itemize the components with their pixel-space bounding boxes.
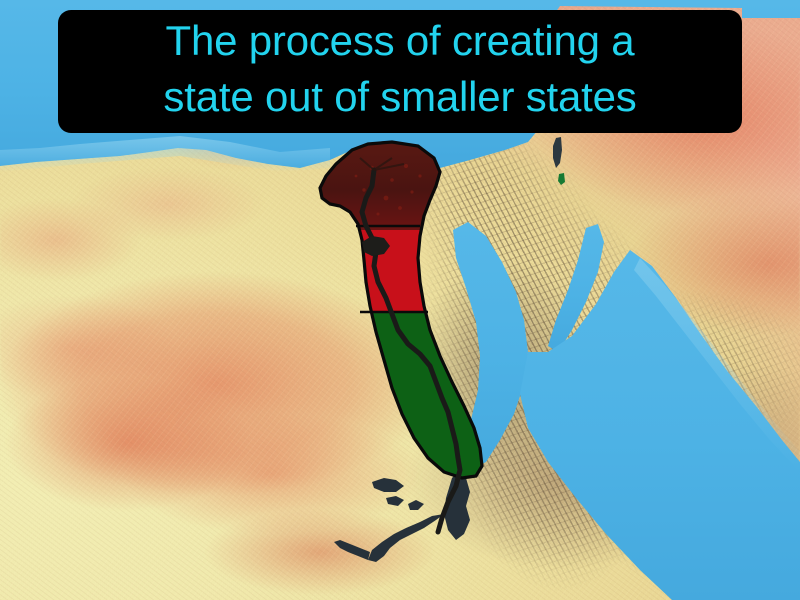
definition-card: The process of creating a state out of s… xyxy=(0,0,800,600)
middle-nile-region xyxy=(300,230,500,313)
definition-caption-box: The process of creating a state out of s… xyxy=(58,10,742,133)
nile-delta-region xyxy=(300,130,480,230)
upper-nile-region xyxy=(300,313,520,493)
caption-line-1: The process of creating a xyxy=(166,13,635,69)
caption-line-2: state out of smaller states xyxy=(163,69,636,125)
